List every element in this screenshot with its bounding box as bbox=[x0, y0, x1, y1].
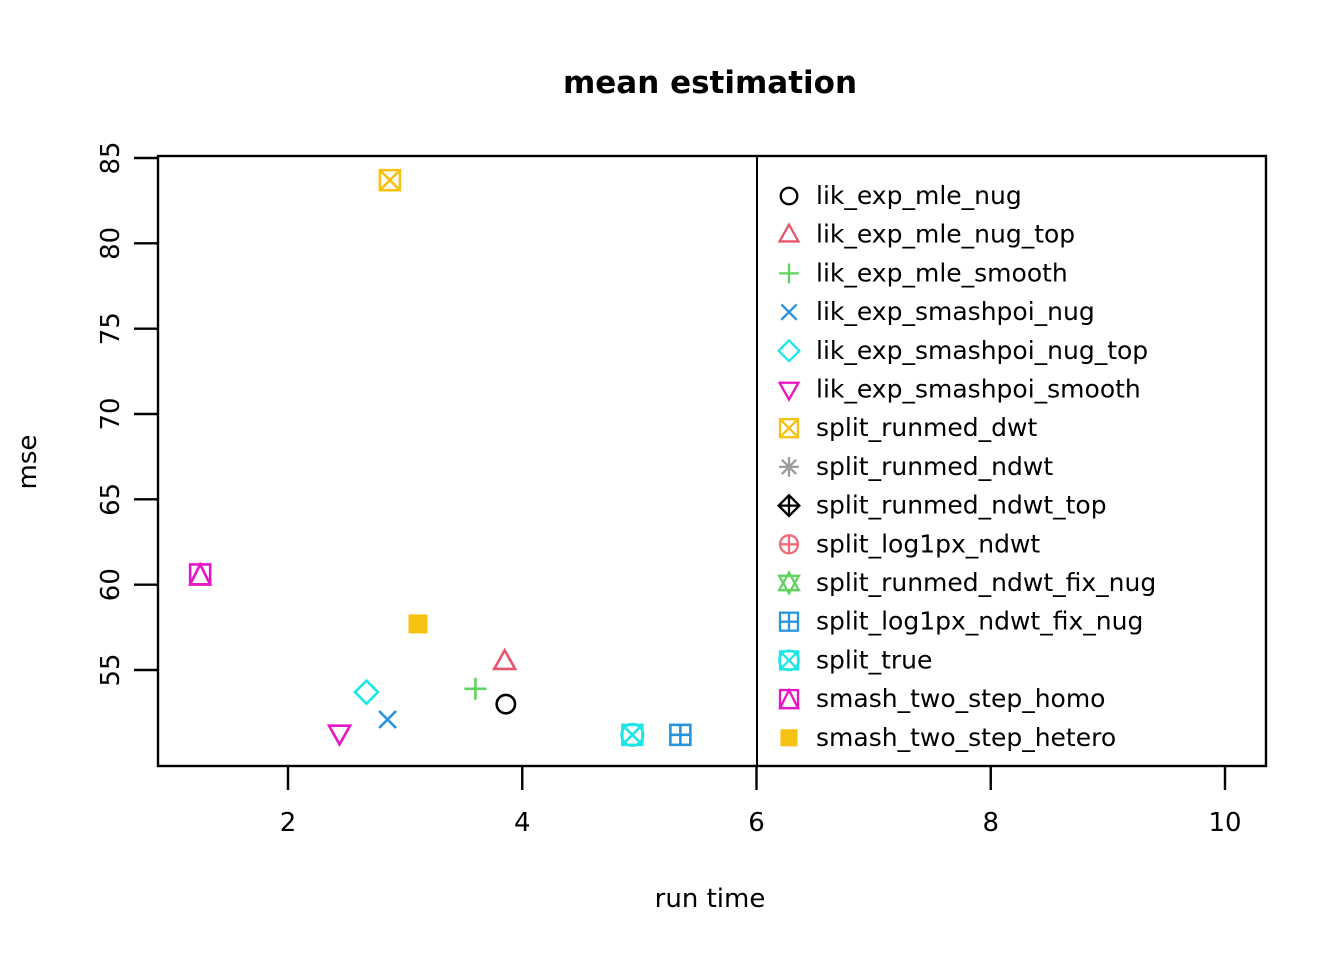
square-cross-icon bbox=[780, 419, 798, 437]
legend-label: lik_exp_smashpoi_nug_top bbox=[816, 336, 1148, 365]
legend-item-lik-exp-mle-nug[interactable]: lik_exp_mle_nug bbox=[781, 181, 1022, 210]
legend-item-split-runmed-dwt[interactable]: split_runmed_dwt bbox=[780, 413, 1037, 442]
circle-plus-icon bbox=[780, 535, 798, 553]
legend-item-split-runmed-ndwt-fix-nug[interactable]: split_runmed_ndwt_fix_nug bbox=[779, 568, 1156, 597]
legend-item-lik-exp-smashpoi-nug[interactable]: lik_exp_smashpoi_nug bbox=[781, 297, 1094, 326]
legend-label: lik_exp_mle_nug bbox=[816, 181, 1022, 210]
marker-part bbox=[780, 225, 799, 242]
legend-item-lik-exp-mle-nug-top[interactable]: lik_exp_mle_nug_top bbox=[780, 220, 1076, 249]
x-tick-label: 4 bbox=[514, 808, 531, 838]
plot-frame bbox=[158, 156, 1266, 766]
legend-item-split-log1px-ndwt[interactable]: split_log1px_ndwt bbox=[780, 529, 1040, 558]
square-plus-icon bbox=[780, 613, 798, 631]
x-axis-ticks: 246810 bbox=[280, 766, 1242, 838]
legend-label: split_runmed_ndwt_top bbox=[816, 491, 1107, 520]
data-point-lik-exp-mle-nug[interactable] bbox=[497, 695, 515, 713]
legend-item-lik-exp-mle-smooth[interactable]: lik_exp_mle_smooth bbox=[779, 258, 1068, 287]
legend-item-smash-two-step-homo[interactable]: smash_two_step_homo bbox=[780, 684, 1105, 713]
legend-label: smash_two_step_homo bbox=[816, 684, 1105, 713]
legend-item-lik-exp-smashpoi-nug-top[interactable]: lik_exp_smashpoi_nug_top bbox=[779, 336, 1149, 365]
legend-label: split_runmed_ndwt_fix_nug bbox=[816, 568, 1156, 597]
marker-part bbox=[494, 650, 515, 669]
legend-label: lik_exp_smashpoi_nug bbox=[816, 297, 1095, 326]
marker-part bbox=[781, 188, 798, 205]
cross-icon bbox=[781, 304, 796, 319]
x-tick-label: 8 bbox=[982, 808, 999, 838]
data-point-split-log1px-ndwt-fix-nug[interactable] bbox=[670, 725, 690, 745]
data-point-lik-exp-smashpoi-nug-top[interactable] bbox=[355, 681, 378, 704]
legend-label: smash_two_step_hetero bbox=[816, 723, 1116, 752]
square-triangle-icon bbox=[780, 690, 798, 708]
marker-part bbox=[329, 726, 350, 745]
legend-item-split-runmed-ndwt-top[interactable]: split_runmed_ndwt_top bbox=[779, 491, 1107, 520]
filled-square-icon bbox=[780, 729, 797, 746]
legend-item-smash-two-step-hetero[interactable]: smash_two_step_hetero bbox=[780, 723, 1116, 752]
marker-part bbox=[497, 695, 515, 713]
marker-part bbox=[780, 690, 798, 708]
marker-part bbox=[190, 564, 210, 584]
legend-item-split-runmed-ndwt[interactable]: split_runmed_ndwt bbox=[779, 452, 1053, 481]
data-point-smash-two-step-homo[interactable] bbox=[190, 564, 210, 584]
star-triangles-icon bbox=[779, 573, 799, 594]
y-tick-label: 65 bbox=[96, 483, 126, 516]
y-tick-label: 60 bbox=[96, 568, 126, 601]
scatter-plot-svg: mean estimation run time mse 246810 5560… bbox=[0, 0, 1344, 960]
legend-item-split-true[interactable]: split_true bbox=[779, 645, 932, 674]
legend-label: split_true bbox=[816, 645, 932, 674]
diamond-icon bbox=[779, 340, 800, 361]
legend-label: split_log1px_ndwt bbox=[816, 529, 1040, 558]
x-tick-label: 10 bbox=[1208, 808, 1241, 838]
data-point-layer bbox=[190, 170, 690, 745]
legend-item-lik-exp-smashpoi-smooth[interactable]: lik_exp_smashpoi_smooth bbox=[780, 375, 1141, 404]
data-point-lik-exp-smashpoi-nug[interactable] bbox=[379, 711, 396, 728]
legend-label: lik_exp_mle_smooth bbox=[816, 258, 1068, 287]
marker-part bbox=[409, 614, 428, 633]
legend-label: lik_exp_mle_nug_top bbox=[816, 220, 1075, 249]
circle-icon bbox=[781, 188, 798, 205]
legend-item-split-log1px-ndwt-fix-nug[interactable]: split_log1px_ndwt_fix_nug bbox=[780, 607, 1143, 636]
data-point-lik-exp-mle-nug-top[interactable] bbox=[494, 650, 515, 669]
plus-icon bbox=[779, 264, 799, 284]
data-point-lik-exp-smashpoi-smooth[interactable] bbox=[329, 726, 350, 745]
y-tick-label: 75 bbox=[96, 312, 126, 345]
legend-label: split_runmed_dwt bbox=[816, 413, 1037, 442]
legend-label: split_runmed_ndwt bbox=[816, 452, 1053, 481]
x-tick-label: 6 bbox=[748, 808, 765, 838]
legend-label: split_log1px_ndwt_fix_nug bbox=[816, 607, 1143, 636]
y-axis-label: mse bbox=[13, 435, 43, 490]
y-tick-label: 55 bbox=[96, 653, 126, 686]
y-tick-label: 85 bbox=[96, 141, 126, 174]
data-point-smash-two-step-hetero[interactable] bbox=[409, 614, 428, 633]
marker-part bbox=[190, 564, 210, 584]
marker-part bbox=[780, 690, 798, 708]
legend-label: lik_exp_smashpoi_smooth bbox=[816, 375, 1141, 404]
x-axis-label: run time bbox=[655, 884, 766, 914]
triangle-down-icon bbox=[780, 383, 799, 400]
circle-square-cross-icon bbox=[779, 651, 798, 670]
asterisk-icon bbox=[779, 457, 799, 477]
y-tick-label: 80 bbox=[96, 227, 126, 260]
marker-part bbox=[780, 383, 799, 400]
data-point-lik-exp-mle-smooth[interactable] bbox=[464, 678, 486, 700]
marker-part bbox=[780, 729, 797, 746]
marker-part bbox=[355, 681, 378, 704]
y-axis-ticks: 55606570758085 bbox=[96, 141, 158, 686]
triangle-up-icon bbox=[780, 225, 799, 242]
chart-canvas: mean estimation run time mse 246810 5560… bbox=[0, 0, 1344, 960]
diamond-plus-icon bbox=[779, 495, 800, 516]
y-tick-label: 70 bbox=[96, 397, 126, 430]
x-tick-label: 2 bbox=[280, 808, 297, 838]
page-title: mean estimation bbox=[563, 65, 857, 101]
marker-part bbox=[779, 340, 800, 361]
data-point-split-runmed-dwt[interactable] bbox=[380, 170, 400, 190]
data-point-split-true[interactable] bbox=[622, 724, 644, 746]
legend-items: lik_exp_mle_nuglik_exp_mle_nug_toplik_ex… bbox=[779, 181, 1157, 752]
